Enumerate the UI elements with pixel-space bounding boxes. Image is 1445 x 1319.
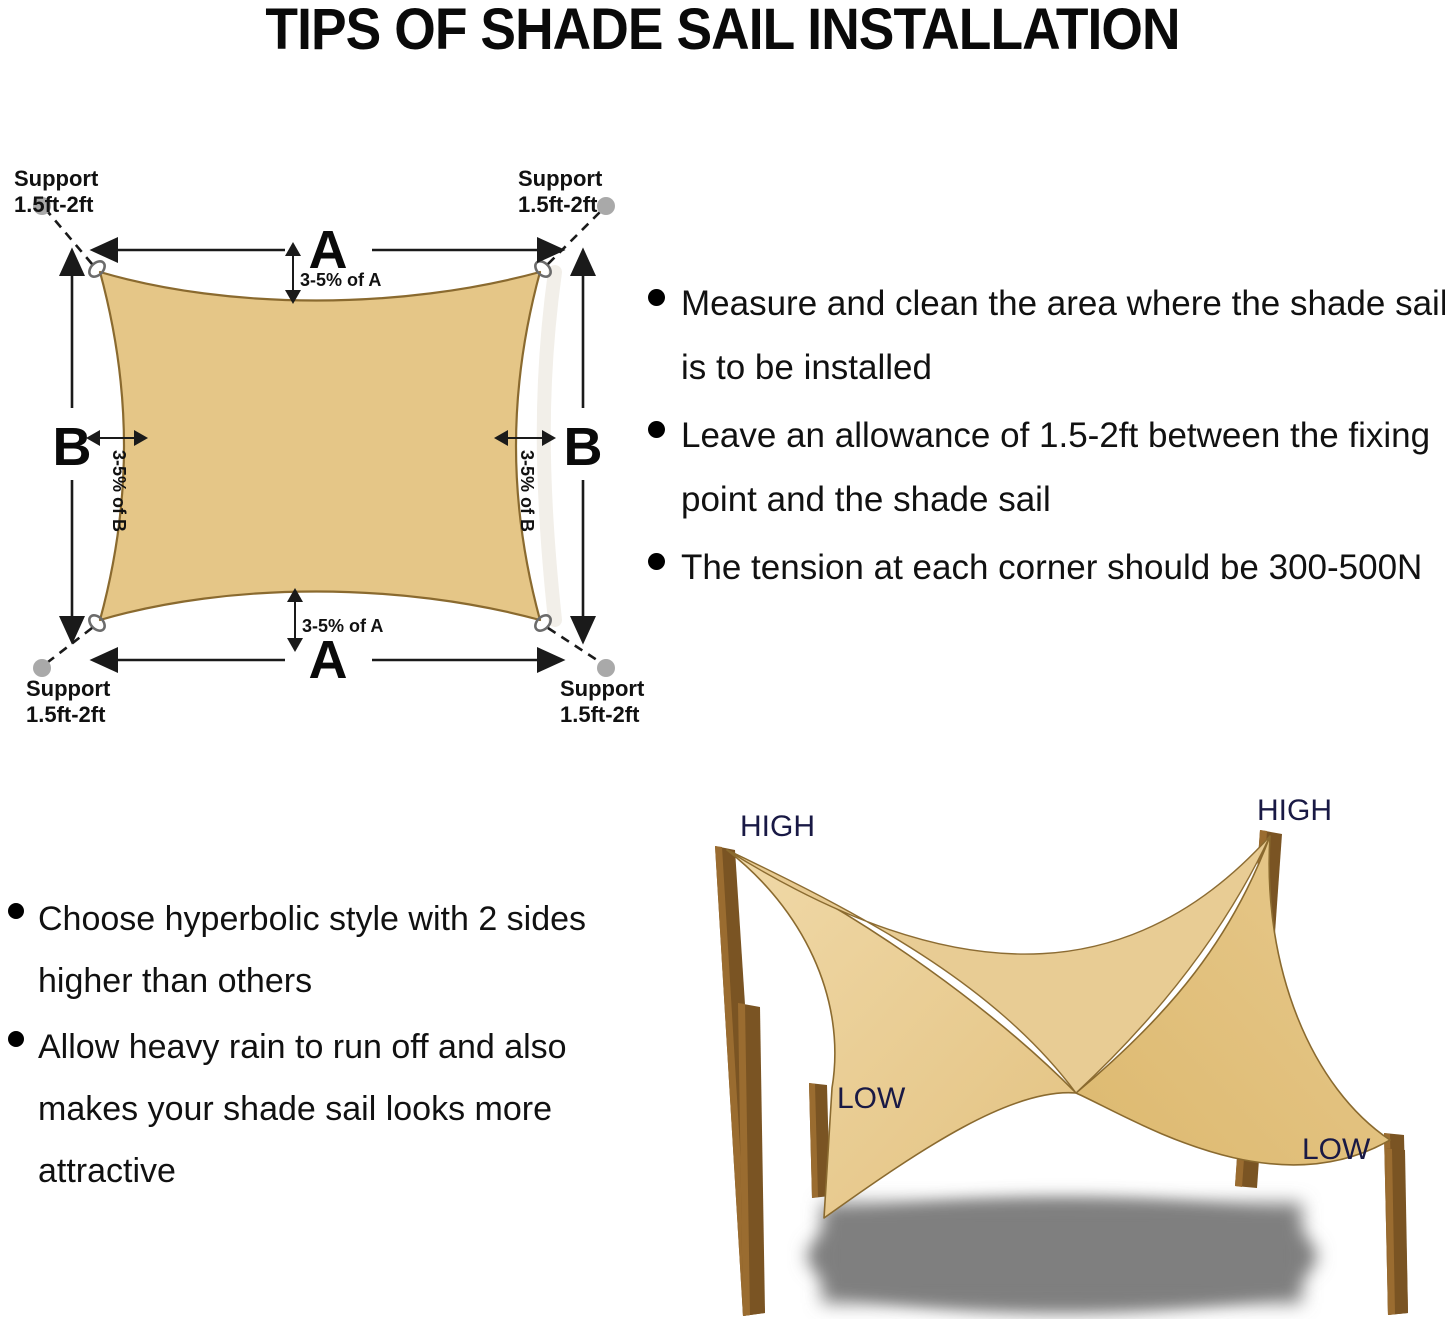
support-label-top-left-line1: Support — [14, 166, 99, 191]
tip-text: The tension at each corner should be 300… — [681, 536, 1422, 600]
ground-shadow-rect — [822, 1203, 1302, 1303]
tips-list-bottom: Choose hyperbolic style with 2 sides hig… — [8, 888, 628, 1206]
bullet-dot-icon — [648, 421, 665, 438]
support-label-bottom-right-line1: Support — [560, 676, 645, 701]
support-label-top-left-line2: 1.5ft-2ft — [14, 192, 94, 217]
sail-edge-band — [544, 272, 555, 620]
label-high-left: HIGH — [740, 810, 815, 844]
support-label-top-right-line2: 1.5ft-2ft — [518, 192, 598, 217]
bullet-dot-icon — [8, 903, 24, 919]
bullet-dot-icon — [8, 1031, 24, 1047]
label-high-right: HIGH — [1257, 794, 1332, 828]
list-item: The tension at each corner should be 300… — [648, 536, 1445, 600]
list-item: Leave an allowance of 1.5-2ft between th… — [648, 404, 1445, 532]
cable-top-left — [48, 212, 92, 264]
label-low-right: LOW — [1302, 1133, 1370, 1167]
sag-label-left: 3-5% of B — [109, 450, 129, 532]
support-dot-bottom-left — [33, 659, 51, 677]
dim-label-left-B: B — [53, 417, 92, 477]
post-low-right-front — [1386, 1148, 1408, 1315]
support-label-top-right-line1: Support — [518, 166, 603, 191]
list-item: Allow heavy rain to run off and also mak… — [8, 1016, 628, 1202]
bullet-dot-icon — [648, 553, 665, 570]
tips-list-top: Measure and clean the area where the sha… — [648, 272, 1445, 604]
support-label-bottom-left-line1: Support — [26, 676, 111, 701]
tip-text: Choose hyperbolic style with 2 sides hig… — [38, 888, 628, 1012]
sag-label-right: 3-5% of B — [517, 450, 537, 532]
cable-bottom-left — [48, 628, 92, 662]
sag-label-bottom: 3-5% of A — [302, 616, 383, 636]
bullet-dot-icon — [648, 289, 665, 306]
cable-top-right — [548, 212, 600, 264]
support-label-bottom-left-line2: 1.5ft-2ft — [26, 702, 106, 727]
support-dot-bottom-right — [597, 659, 615, 677]
list-item: Measure and clean the area where the sha… — [648, 272, 1445, 400]
cable-bottom-right — [548, 628, 600, 662]
label-low-left: LOW — [837, 1082, 905, 1116]
dim-label-bottom-A: A — [309, 630, 348, 690]
tip-text: Measure and clean the area where the sha… — [681, 272, 1445, 400]
support-dot-top-right — [597, 197, 615, 215]
shade-sail-shape — [100, 272, 540, 620]
dim-label-right-B: B — [564, 417, 603, 477]
tip-text: Leave an allowance of 1.5-2ft between th… — [681, 404, 1445, 532]
tip-text: Allow heavy rain to run off and also mak… — [38, 1016, 628, 1202]
support-label-bottom-right-line2: 1.5ft-2ft — [560, 702, 640, 727]
page-title: TIPS OF SHADE SAIL INSTALLATION — [58, 0, 1387, 63]
list-item: Choose hyperbolic style with 2 sides hig… — [8, 888, 628, 1012]
sag-label-top: 3-5% of A — [300, 270, 381, 290]
rectangle-sail-diagram: A A B B 3-5% of A 3-5% of A 3-5% of B 3-… — [0, 150, 660, 730]
hyperbolic-sail-diagram: HIGH HIGH LOW LOW — [672, 788, 1445, 1319]
